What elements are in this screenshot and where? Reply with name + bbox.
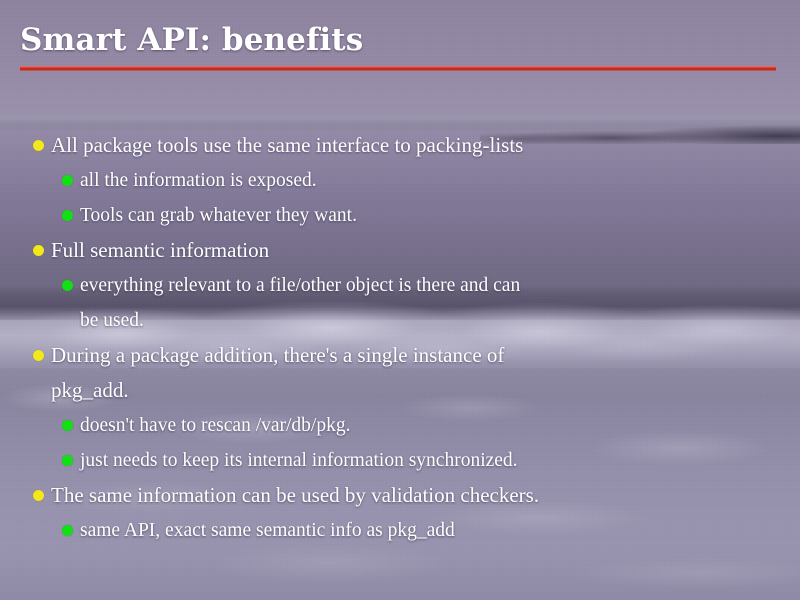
slide-content: Smart API: benefits All package tools us… xyxy=(0,0,800,600)
bullet-text: same API, exact same semantic info as pk… xyxy=(80,513,455,548)
bullet-dot-green-icon xyxy=(62,210,73,221)
bullet-text: The same information can be used by vali… xyxy=(51,478,539,513)
bullet-dot-green-icon xyxy=(62,175,73,186)
bullet-item-level2: doesn't have to rescan /var/db/pkg. xyxy=(0,408,800,443)
bullet-text: All package tools use the same interface… xyxy=(51,128,523,163)
bullet-text: Full semantic information xyxy=(51,233,269,268)
bullet-item-level1: The same information can be used by vali… xyxy=(0,478,800,513)
bullet-text: all the information is exposed. xyxy=(80,163,317,198)
bullet-text-continuation: pkg_add. xyxy=(51,373,504,408)
bullet-item-level2: everything relevant to a file/other obje… xyxy=(0,268,800,338)
bullet-dot-green-icon xyxy=(62,525,73,536)
bullet-item-level1: All package tools use the same interface… xyxy=(0,128,800,163)
bullet-text-continuation: be used. xyxy=(80,303,520,338)
bullet-text: everything relevant to a file/other obje… xyxy=(80,268,520,338)
bullet-dot-yellow-icon xyxy=(33,140,44,151)
bullet-item-level1: During a package addition, there's a sin… xyxy=(0,338,800,408)
bullet-item-level1: Full semantic information xyxy=(0,233,800,268)
title-underline-rule xyxy=(20,66,776,71)
presentation-slide: Smart API: benefits All package tools us… xyxy=(0,0,800,600)
bullet-text: doesn't have to rescan /var/db/pkg. xyxy=(80,408,350,443)
bullet-dot-green-icon xyxy=(62,420,73,431)
bullet-item-level2: Tools can grab whatever they want. xyxy=(0,198,800,233)
bullet-item-level2: same API, exact same semantic info as pk… xyxy=(0,513,800,548)
bullet-dot-green-icon xyxy=(62,280,73,291)
slide-title: Smart API: benefits xyxy=(20,22,363,58)
bullet-item-level2: all the information is exposed. xyxy=(0,163,800,198)
bullet-dot-yellow-icon xyxy=(33,350,44,361)
bullet-text: Tools can grab whatever they want. xyxy=(80,198,357,233)
bullet-dot-green-icon xyxy=(62,455,73,466)
bullet-item-level2: just needs to keep its internal informat… xyxy=(0,443,800,478)
bullet-text: just needs to keep its internal informat… xyxy=(80,443,518,478)
bullet-text: During a package addition, there's a sin… xyxy=(51,338,504,408)
bullet-dot-yellow-icon xyxy=(33,245,44,256)
bullet-dot-yellow-icon xyxy=(33,490,44,501)
bullet-list: All package tools use the same interface… xyxy=(0,128,800,548)
